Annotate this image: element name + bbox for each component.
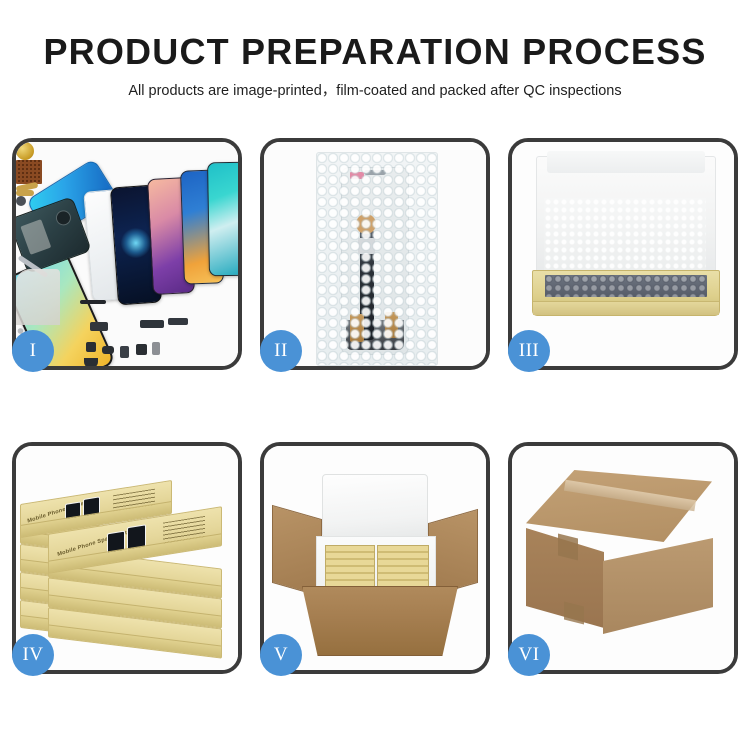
sealed-shipping-carton-photo [512,446,734,670]
small-component-3 [120,346,129,358]
carton-seal-lower [564,602,584,625]
inner-box-packing-photo [512,142,734,366]
small-component-7 [16,196,26,206]
step-badge-4: IV [12,634,54,676]
bubble-wrapped-contents [545,275,707,297]
bubble-wrap-bag [316,152,438,366]
carton-body [302,586,458,656]
step-badge-2: II [260,330,302,372]
foam-lid-open [322,474,428,538]
step-panel-2: II [260,138,490,370]
technician-hand [16,269,60,325]
foam-sheet [544,198,706,272]
small-component-4 [136,344,147,355]
bubble-texture [317,153,437,365]
phone-screen-teal [207,162,238,277]
step-image-3 [512,142,734,366]
box-stack: Mobile Phone Spare Parts Mobile P [16,446,238,670]
stacked-retail-boxes-photo: Mobile Phone Spare Parts Mobile P [16,446,238,670]
yellow-boxes-batch-right [377,545,429,587]
flex-cable-part-4 [140,320,164,328]
carton-right-face [603,538,713,634]
step-badge-3: III [508,330,550,372]
step-image-1 [16,142,238,366]
box-front-lip [533,301,719,315]
parts-and-screens-photo [16,142,238,366]
step-panel-5: V [260,442,490,674]
step-image-4: Mobile Phone Spare Parts Mobile P [16,446,238,670]
step-panel-6: VI [508,442,738,674]
step-badge-6: VI [508,634,550,676]
header: PRODUCT PREPARATION PROCESS All products… [0,30,750,102]
step-badge-5: V [260,634,302,676]
carton-flap-left [272,505,322,597]
bubble-wrapped-screen-photo [264,142,486,366]
carton-seal-upper [558,534,578,561]
flex-cable-part-3 [90,322,108,331]
process-steps-grid: I [12,138,738,698]
yellow-boxes-batch-left [325,545,375,587]
foam-carton-loading-photo [264,446,486,670]
page-subtitle: All products are image-printed，film-coat… [0,80,750,102]
product-preparation-infographic: PRODUCT PREPARATION PROCESS All products… [0,0,750,750]
small-component-6 [84,358,98,366]
flex-cable-part-5 [168,318,188,325]
step-image-5 [264,446,486,670]
small-component-2 [102,346,114,354]
step-image-2 [264,142,486,366]
copper-grid-part [16,160,42,184]
step-badge-1: I [12,330,54,372]
step-panel-1: I [12,138,242,370]
step-panel-4: Mobile Phone Spare Parts Mobile P [12,442,242,674]
earpiece-mesh-part [80,300,106,304]
small-component-5 [152,342,160,355]
small-component-1 [86,342,96,352]
page-title: PRODUCT PREPARATION PROCESS [0,30,750,74]
step-panel-3: III [508,138,738,370]
yellow-box-tray [532,270,720,316]
step-image-6 [512,446,734,670]
speaker-coil-part [16,142,34,160]
